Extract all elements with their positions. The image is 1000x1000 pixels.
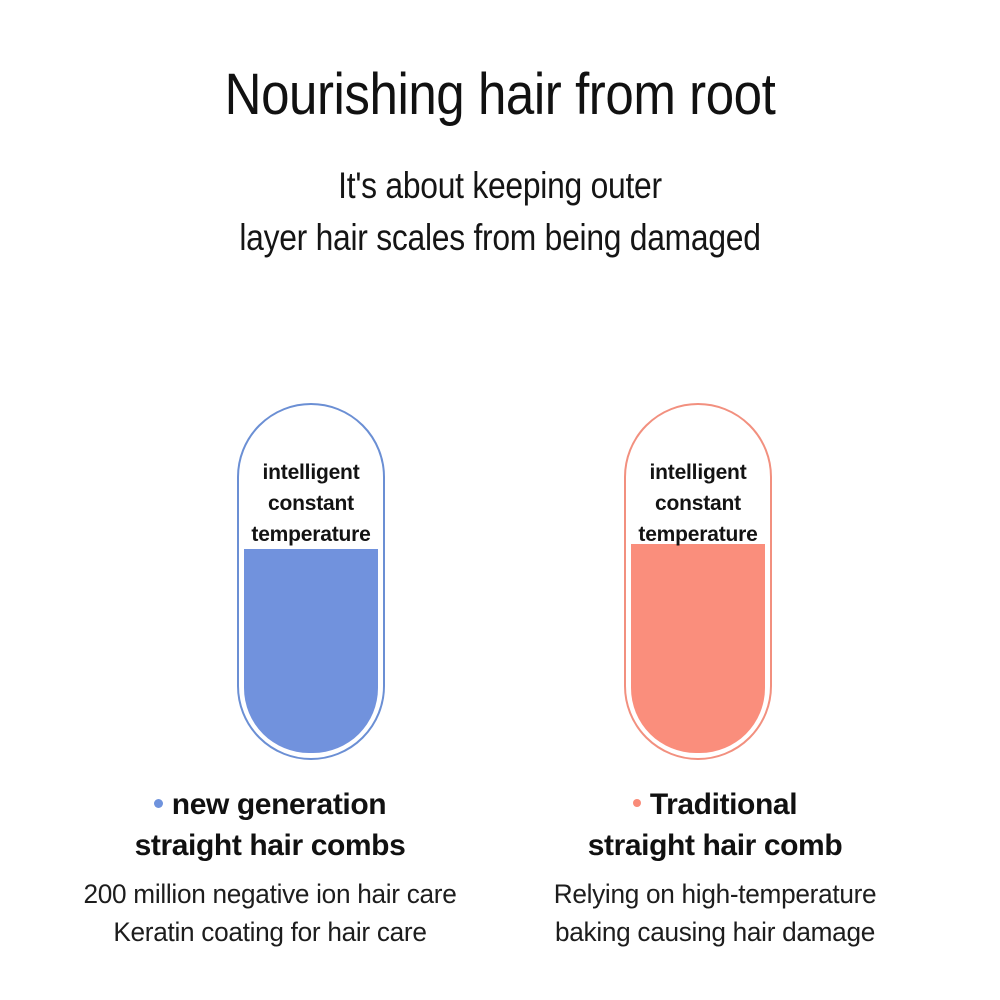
legend-desc-right: Relying on high-temperature baking causi… [506, 875, 923, 951]
legend-title-right: Traditional straight hair comb [500, 784, 930, 866]
legend-desc-left: 200 million negative ion hair care Kerat… [61, 875, 478, 951]
legend-desc-right-line-1: Relying on high-temperature [506, 875, 923, 913]
legend-title-right-text-1: Traditional [650, 788, 797, 821]
legend-title-left-text-1: new generation [172, 788, 386, 821]
capsule-label-right-line-2: constant [624, 488, 772, 519]
legend-title-left: new generation straight hair combs [55, 784, 485, 866]
capsule-label-left-line-1: intelligent [237, 457, 385, 488]
capsule-traditional: intelligent constant temperature [624, 403, 772, 760]
infographic-canvas: Nourishing hair from root It's about kee… [0, 0, 1000, 1000]
capsule-label-right-line-1: intelligent [624, 457, 772, 488]
bullet-dot-coral-icon [633, 799, 641, 807]
legend-new-generation: new generation straight hair combs 200 m… [55, 784, 485, 951]
legend-title-right-line-1: Traditional [500, 784, 930, 825]
capsule-label-left-line-2: constant [237, 488, 385, 519]
subtitle-line-2: layer hair scales from being damaged [70, 212, 930, 264]
bullet-dot-blue-icon [154, 799, 163, 808]
page-title: Nourishing hair from root [60, 64, 940, 126]
page-subtitle: It's about keeping outer layer hair scal… [70, 160, 930, 264]
capsule-label-right: intelligent constant temperature [624, 457, 772, 550]
capsule-new-generation: intelligent constant temperature [237, 403, 385, 760]
subtitle-line-1: It's about keeping outer [70, 160, 930, 212]
legend-desc-left-line-2: Keratin coating for hair care [61, 913, 478, 951]
capsule-fill-blue [244, 549, 378, 753]
legend-desc-right-line-2: baking causing hair damage [506, 913, 923, 951]
legend-title-left-line-2: straight hair combs [55, 825, 485, 866]
capsule-fill-coral [631, 544, 765, 753]
legend-title-left-line-1: new generation [55, 784, 485, 825]
legend-traditional: Traditional straight hair comb Relying o… [500, 784, 930, 951]
capsule-label-left-line-3: temperature [237, 519, 385, 550]
capsule-label-right-line-3: temperature [624, 519, 772, 550]
legend-title-right-line-2: straight hair comb [500, 825, 930, 866]
capsule-label-left: intelligent constant temperature [237, 457, 385, 550]
legend-desc-left-line-1: 200 million negative ion hair care [61, 875, 478, 913]
